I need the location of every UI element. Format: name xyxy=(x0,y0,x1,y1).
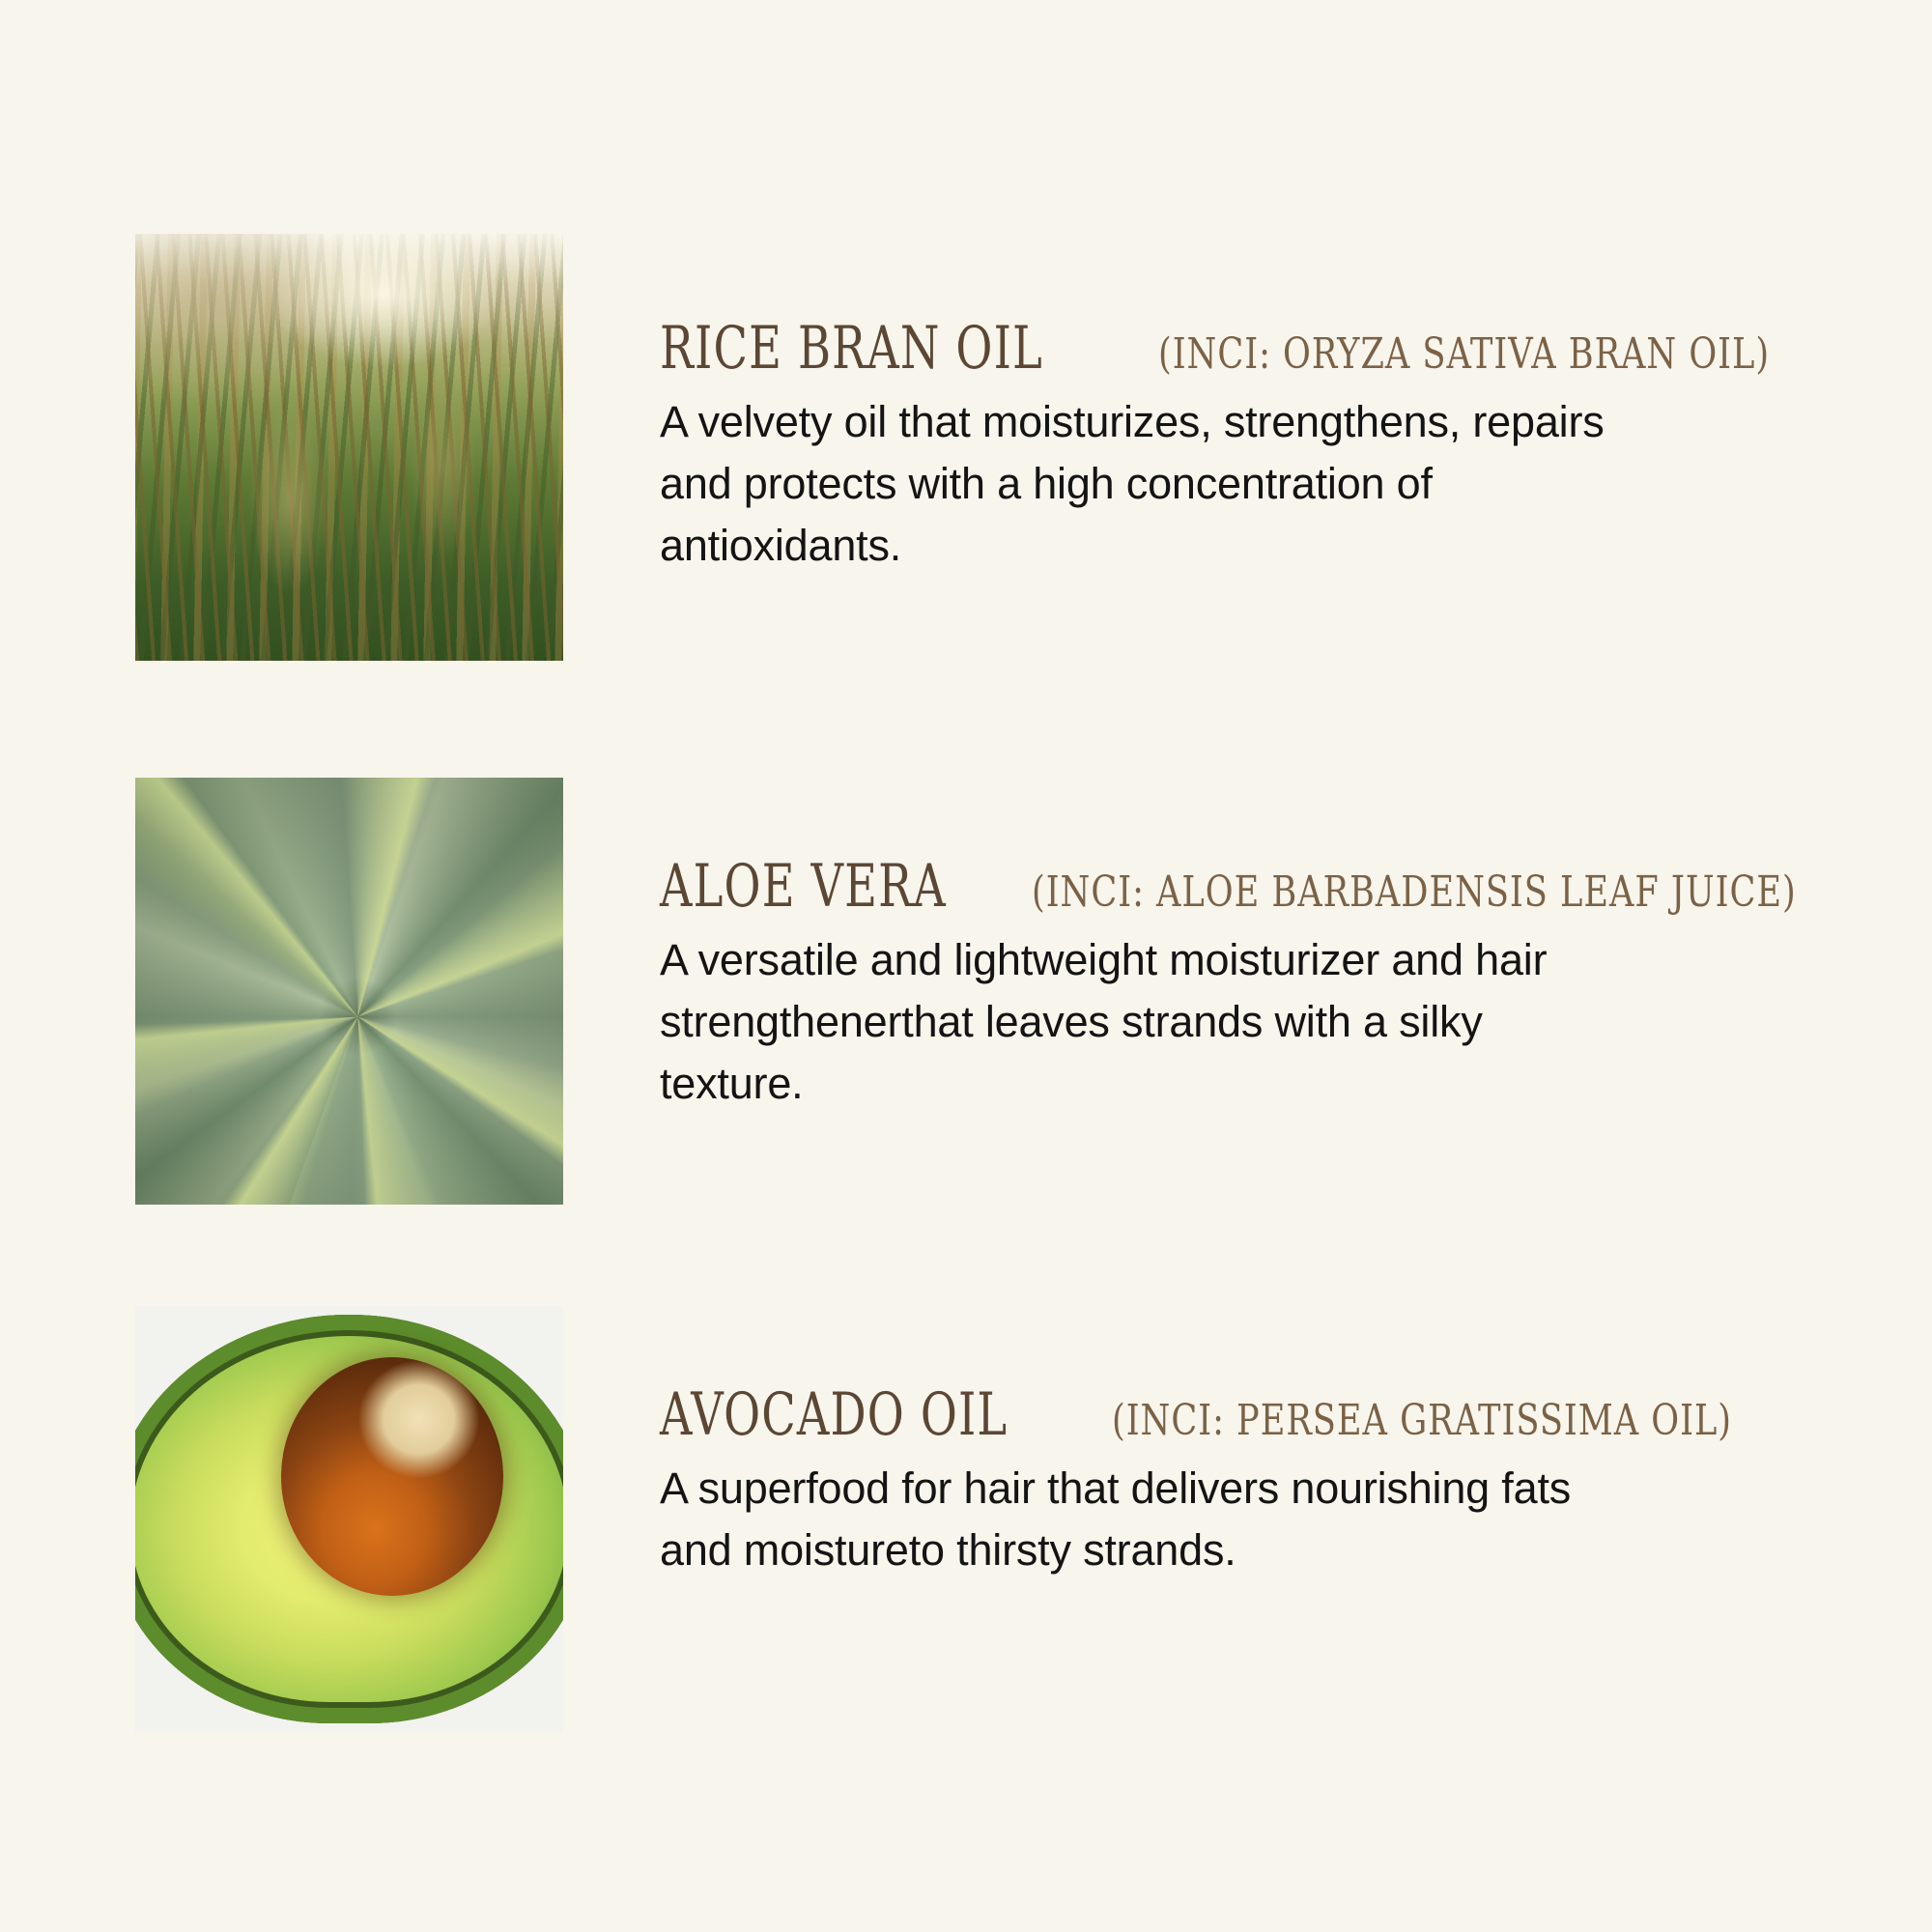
ingredient-image-avocado-oil xyxy=(135,1306,563,1732)
ingredient-description: A velvety oil that moisturizes, strength… xyxy=(660,391,1616,577)
ingredient-name: ALOE VERA xyxy=(660,857,947,916)
ingredient-heading: RICE BRAN OIL(INCI: ORYZA SATIVA BRAN OI… xyxy=(660,319,1635,378)
ingredient-description: A versatile and lightweight moisturizer … xyxy=(660,929,1635,1115)
ingredient-description: A superfood for hair that delivers nouri… xyxy=(660,1458,1635,1581)
ingredient-image-rice-bran-oil xyxy=(135,234,563,661)
ingredient-row: AVOCADO OIL(INCI: PERSEA GRATISSIMA OIL)… xyxy=(135,1306,1855,1732)
ingredient-text-block: RICE BRAN OIL(INCI: ORYZA SATIVA BRAN OI… xyxy=(660,319,1635,577)
ingredient-name: AVOCADO OIL xyxy=(660,1385,1008,1444)
ingredient-text-block: ALOE VERA(INCI: ALOE BARBADENSIS LEAF JU… xyxy=(660,857,1635,1115)
ingredient-row: RICE BRAN OIL(INCI: ORYZA SATIVA BRAN OI… xyxy=(135,234,1855,661)
ingredients-page: RICE BRAN OIL(INCI: ORYZA SATIVA BRAN OI… xyxy=(0,0,1932,1932)
ingredient-text-block: AVOCADO OIL(INCI: PERSEA GRATISSIMA OIL)… xyxy=(660,1385,1635,1581)
ingredient-inci: (INCI: ALOE BARBADENSIS LEAF JUICE) xyxy=(1032,871,1797,914)
ingredient-image-aloe-vera xyxy=(135,778,563,1205)
ingredient-inci: (INCI: ORYZA SATIVA BRAN OIL) xyxy=(1158,333,1770,376)
ingredient-heading: ALOE VERA(INCI: ALOE BARBADENSIS LEAF JU… xyxy=(660,857,1635,916)
aloe-vera-plant-photo xyxy=(135,778,563,1205)
ingredient-heading: AVOCADO OIL(INCI: PERSEA GRATISSIMA OIL) xyxy=(660,1385,1635,1444)
ingredient-inci: (INCI: PERSEA GRATISSIMA OIL) xyxy=(1112,1400,1732,1442)
ingredient-row: ALOE VERA(INCI: ALOE BARBADENSIS LEAF JU… xyxy=(135,778,1855,1205)
rice-field-photo xyxy=(135,234,563,661)
avocado-half-photo xyxy=(135,1306,563,1732)
ingredient-name: RICE BRAN OIL xyxy=(660,319,1043,378)
